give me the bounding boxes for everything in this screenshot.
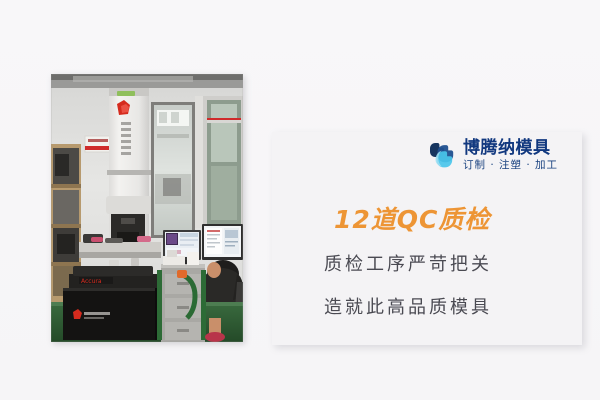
- content-panel: 博腾纳模具 订制 · 注塑 · 加工 12道QC质检 质检工序严苛把关 造就此高…: [272, 132, 582, 345]
- body-line-2: 造就此高品质模具: [324, 293, 492, 319]
- two-overlapping-crosses-icon: [424, 138, 458, 172]
- brand-tagline: 订制 · 注塑 · 加工: [463, 160, 558, 171]
- brand-logo: 博腾纳模具 订制 · 注塑 · 加工: [424, 138, 558, 172]
- svg-text:Accura: Accura: [81, 278, 102, 285]
- qc-inspection-photo: Accura: [51, 74, 243, 342]
- brand-name: 博腾纳模具: [463, 140, 558, 157]
- brand-logo-text: 博腾纳模具 订制 · 注塑 · 加工: [463, 140, 558, 171]
- page-title: 12道QC质检: [334, 200, 490, 236]
- slide-root: 博腾纳模具 订制 · 注塑 · 加工 12道QC质检 质检工序严苛把关 造就此高…: [0, 0, 600, 400]
- body-line-1: 质检工序严苛把关: [324, 250, 492, 276]
- body-copy: 质检工序严苛把关 造就此高品质模具: [324, 250, 492, 336]
